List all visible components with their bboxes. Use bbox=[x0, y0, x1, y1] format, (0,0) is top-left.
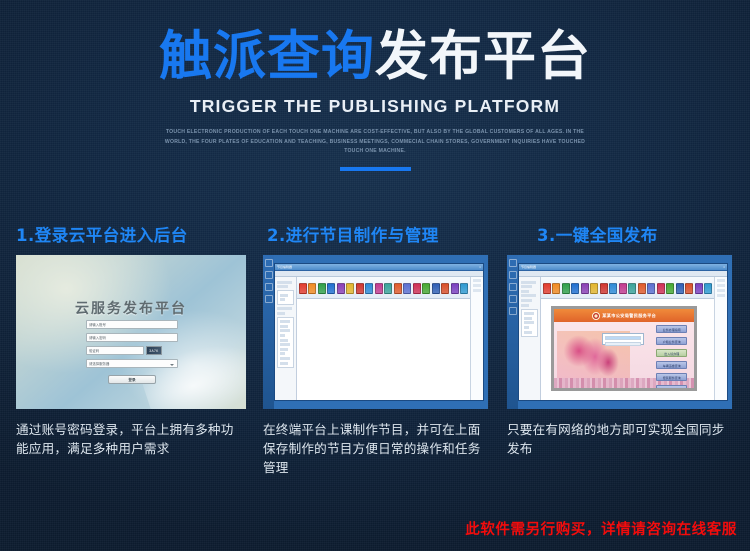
hero-paragraph: TOUCH ELECTRONIC PRODUCTION OF EACH TOUC… bbox=[160, 128, 590, 158]
toolbar-tool-icon-14[interactable] bbox=[422, 283, 430, 294]
step-2-screenshot: 节目编辑器 × bbox=[263, 255, 488, 409]
design-button-4[interactable]: 车辆违章查询 bbox=[656, 361, 687, 369]
toolbar-tool-icon-11[interactable] bbox=[638, 283, 646, 294]
publish-window: 节目编辑器 × bbox=[507, 255, 732, 409]
editor-properties-pane bbox=[470, 277, 483, 400]
design-header-banner: 某某市公安局警民服务平台 bbox=[554, 309, 694, 322]
design-login-box[interactable] bbox=[602, 333, 644, 346]
tree-line bbox=[521, 299, 532, 302]
publish-close-icon[interactable]: × bbox=[723, 265, 725, 269]
toolbar-tool-icon-2[interactable] bbox=[552, 283, 560, 294]
editor-inner bbox=[275, 277, 483, 400]
tree-line bbox=[280, 320, 290, 323]
promo-page: 触派查询发布平台 TRIGGER THE PUBLISHING PLATFORM… bbox=[0, 0, 750, 551]
tree-line bbox=[280, 348, 288, 351]
toolbar-tool-icon-3[interactable] bbox=[562, 283, 570, 294]
toolbar-tool-icon-15[interactable] bbox=[676, 283, 684, 294]
login-server-row: 请选择服务器 bbox=[86, 359, 178, 368]
tree-line bbox=[280, 329, 290, 332]
toolbar-tool-icon-2[interactable] bbox=[308, 283, 316, 294]
step-2-caption: 在终端平台上课制作节目，并可在上面保存制作的节目方便日常的操作和任务管理 bbox=[263, 421, 490, 478]
toolbar-tool-icon-7[interactable] bbox=[600, 283, 608, 294]
publish-window-title: 节目编辑器 bbox=[521, 265, 536, 269]
tree-line bbox=[524, 312, 534, 315]
publish-tree-pane bbox=[519, 277, 541, 400]
tree-group-box bbox=[277, 290, 294, 305]
password-input[interactable]: 请输入密码 bbox=[86, 333, 178, 342]
tree-line bbox=[521, 294, 536, 297]
editor-toolbar[interactable] bbox=[297, 277, 471, 299]
tree-line bbox=[280, 352, 285, 355]
tree-line bbox=[280, 357, 290, 360]
server-select[interactable]: 请选择服务器 bbox=[86, 359, 178, 368]
rail-user-icon[interactable] bbox=[509, 271, 517, 279]
design-button-column[interactable]: 业务办理指南户籍业务查询出入境办理车辆违章查询便民服务查询在线预约办理 bbox=[656, 325, 687, 388]
rail-publish-icon[interactable] bbox=[509, 295, 517, 303]
publish-inner: 某某市公安局警民服务平台 bbox=[519, 277, 727, 400]
publish-canvas-pane: 某某市公安局警民服务平台 bbox=[541, 277, 715, 400]
editor-body: 节目编辑器 × bbox=[274, 263, 484, 401]
toolbar-tool-icon-10[interactable] bbox=[384, 283, 392, 294]
property-line bbox=[717, 279, 725, 282]
rail-user-icon[interactable] bbox=[265, 271, 273, 279]
step-2-heading: 2.进行节目制作与管理 bbox=[263, 222, 490, 246]
page-title-rest: 发布平台 bbox=[375, 26, 591, 87]
toolbar-tool-icon-17[interactable] bbox=[695, 283, 703, 294]
tree-line bbox=[280, 298, 285, 301]
design-preview: 某某市公安局警民服务平台 bbox=[551, 306, 697, 391]
toolbar-tool-icon-6[interactable] bbox=[346, 283, 354, 294]
tree-line bbox=[280, 343, 290, 346]
editor-tree-pane bbox=[275, 277, 297, 400]
publish-toolbar[interactable] bbox=[541, 277, 715, 299]
toolbar-tool-icon-18[interactable] bbox=[460, 283, 468, 294]
tree-line bbox=[277, 312, 285, 315]
toolbar-tool-icon-9[interactable] bbox=[375, 283, 383, 294]
tree-line bbox=[280, 339, 288, 342]
toolbar-tool-icon-4[interactable] bbox=[571, 283, 579, 294]
account-input[interactable]: 请输入账号 bbox=[86, 320, 178, 329]
tree-line bbox=[521, 285, 532, 288]
toolbar-tool-icon-6[interactable] bbox=[590, 283, 598, 294]
tree-line bbox=[280, 294, 288, 297]
tree-line bbox=[277, 281, 292, 284]
login-captcha-row: 验证码 3A7K bbox=[86, 346, 178, 355]
hero-section: 触派查询发布平台 TRIGGER THE PUBLISHING PLATFORM… bbox=[0, 0, 750, 171]
publish-canvas[interactable]: 某某市公安局警民服务平台 bbox=[541, 299, 715, 400]
tree-line bbox=[521, 290, 529, 293]
toolbar-tool-icon-7[interactable] bbox=[356, 283, 364, 294]
property-line bbox=[473, 284, 481, 287]
step-column-3: 3.一键全国发布 节目编辑器 × bbox=[507, 222, 734, 478]
hero-divider bbox=[340, 167, 411, 171]
step-column-1: 1.登录云平台进入后台 云服务发布平台 请输入账号 请输入密码 验证码 3A7K bbox=[16, 222, 246, 478]
purchase-notice: 此软件需另行购买，详情请咨询在线客服 bbox=[465, 518, 737, 539]
tree-line bbox=[524, 326, 529, 329]
login-form: 请输入账号 请输入密码 验证码 3A7K 请选择服务器 登录 bbox=[86, 320, 178, 384]
tree-line bbox=[524, 331, 532, 334]
toolbar-tool-icon-13[interactable] bbox=[657, 283, 665, 294]
property-line bbox=[717, 284, 725, 287]
property-line bbox=[473, 289, 481, 292]
toolbar-tool-icon-16[interactable] bbox=[685, 283, 693, 294]
captcha-image[interactable]: 3A7K bbox=[146, 346, 162, 355]
toolbar-tool-icon-13[interactable] bbox=[413, 283, 421, 294]
rail-settings-icon[interactable] bbox=[265, 295, 273, 303]
publish-title-bar: 节目编辑器 × bbox=[519, 264, 727, 271]
toolbar-tool-icon-1[interactable] bbox=[299, 283, 307, 294]
tree-line bbox=[277, 307, 292, 310]
tree-list-box bbox=[277, 317, 294, 369]
toolbar-tool-icon-5[interactable] bbox=[337, 283, 345, 294]
toolbar-tool-icon-12[interactable] bbox=[403, 283, 411, 294]
steps-row: 1.登录云平台进入后台 云服务发布平台 请输入账号 请输入密码 验证码 3A7K bbox=[0, 222, 750, 478]
step-3-heading: 3.一键全国发布 bbox=[507, 222, 734, 246]
rail-settings-icon[interactable] bbox=[509, 307, 517, 315]
step-3-caption: 只要在有网络的地方即可实现全国同步发布 bbox=[507, 421, 734, 459]
editor-left-rail bbox=[263, 255, 274, 409]
step-1-heading: 1.登录云平台进入后台 bbox=[16, 222, 246, 246]
captcha-input[interactable]: 验证码 bbox=[86, 346, 144, 355]
editor-window-title: 节目编辑器 bbox=[277, 265, 292, 269]
toolbar-tool-icon-5[interactable] bbox=[581, 283, 589, 294]
tree-list-box bbox=[521, 309, 538, 338]
toolbar-tool-icon-16[interactable] bbox=[441, 283, 449, 294]
step-column-2: 2.进行节目制作与管理 节目编辑器 × bbox=[263, 222, 490, 478]
editor-title-bar: 节目编辑器 × bbox=[275, 264, 483, 271]
tree-line bbox=[521, 281, 536, 284]
login-account-row: 请输入账号 bbox=[86, 320, 178, 329]
tree-line bbox=[280, 325, 288, 328]
rail-media-icon[interactable] bbox=[265, 283, 273, 291]
rail-media-icon[interactable] bbox=[509, 283, 517, 291]
toolbar-tool-icon-11[interactable] bbox=[394, 283, 402, 294]
toolbar-tool-icon-15[interactable] bbox=[432, 283, 440, 294]
login-page-title: 云服务发布平台 bbox=[16, 298, 246, 318]
toolbar-tool-icon-10[interactable] bbox=[628, 283, 636, 294]
toolbar-tool-icon-4[interactable] bbox=[327, 283, 335, 294]
editor-canvas-pane bbox=[297, 277, 471, 400]
tree-line bbox=[524, 317, 532, 320]
publish-body: 节目编辑器 × bbox=[518, 263, 728, 401]
editor-window: 节目编辑器 × bbox=[263, 255, 488, 409]
page-title: 触派查询发布平台 bbox=[0, 29, 750, 85]
editor-canvas[interactable] bbox=[297, 299, 471, 400]
toolbar-tool-icon-8[interactable] bbox=[609, 283, 617, 294]
toolbar-tool-icon-18[interactable] bbox=[704, 283, 712, 294]
tree-line bbox=[280, 334, 285, 337]
tree-line bbox=[277, 285, 288, 288]
toolbar-tool-icon-8[interactable] bbox=[365, 283, 373, 294]
design-header-title: 某某市公安局警民服务平台 bbox=[602, 313, 656, 319]
property-line bbox=[717, 294, 725, 297]
toolbar-tool-icon-9[interactable] bbox=[619, 283, 627, 294]
design-page: 某某市公安局警民服务平台 bbox=[554, 309, 694, 388]
design-button-6[interactable]: 在线预约办理 bbox=[656, 385, 687, 388]
publish-properties-pane bbox=[714, 277, 727, 400]
page-title-highlight: 触派查询 bbox=[159, 26, 375, 87]
design-button-5[interactable]: 便民服务查询 bbox=[656, 373, 687, 381]
tree-line bbox=[524, 321, 534, 324]
property-line bbox=[473, 279, 481, 282]
police-seal-icon bbox=[592, 312, 600, 320]
toolbar-tool-icon-14[interactable] bbox=[666, 283, 674, 294]
tree-line bbox=[280, 362, 288, 365]
design-button-3[interactable]: 出入境办理 bbox=[656, 349, 687, 357]
toolbar-tool-icon-17[interactable] bbox=[451, 283, 459, 294]
editor-close-icon[interactable]: × bbox=[479, 265, 481, 269]
step-1-screenshot: 云服务发布平台 请输入账号 请输入密码 验证码 3A7K 请选择服务器 bbox=[16, 255, 246, 409]
design-button-2[interactable]: 户籍业务查询 bbox=[656, 337, 687, 345]
design-login-password[interactable] bbox=[605, 342, 641, 346]
toolbar-tool-icon-12[interactable] bbox=[647, 283, 655, 294]
toolbar-tool-icon-1[interactable] bbox=[543, 283, 551, 294]
design-login-account[interactable] bbox=[605, 336, 641, 340]
publish-left-rail bbox=[507, 255, 518, 409]
rail-home-icon[interactable] bbox=[509, 259, 517, 267]
rail-home-icon[interactable] bbox=[265, 259, 273, 267]
tree-line bbox=[521, 304, 529, 307]
property-line bbox=[717, 289, 725, 292]
toolbar-tool-icon-3[interactable] bbox=[318, 283, 326, 294]
login-submit-button[interactable]: 登录 bbox=[108, 375, 156, 384]
step-1-caption: 通过账号密码登录，平台上拥有多种功能应用，满足多种用户需求 bbox=[16, 421, 246, 459]
page-subtitle: TRIGGER THE PUBLISHING PLATFORM bbox=[0, 96, 750, 117]
login-password-row: 请输入密码 bbox=[86, 333, 178, 342]
step-3-screenshot: 节目编辑器 × bbox=[507, 255, 732, 409]
design-button-1[interactable]: 业务办理指南 bbox=[656, 325, 687, 333]
